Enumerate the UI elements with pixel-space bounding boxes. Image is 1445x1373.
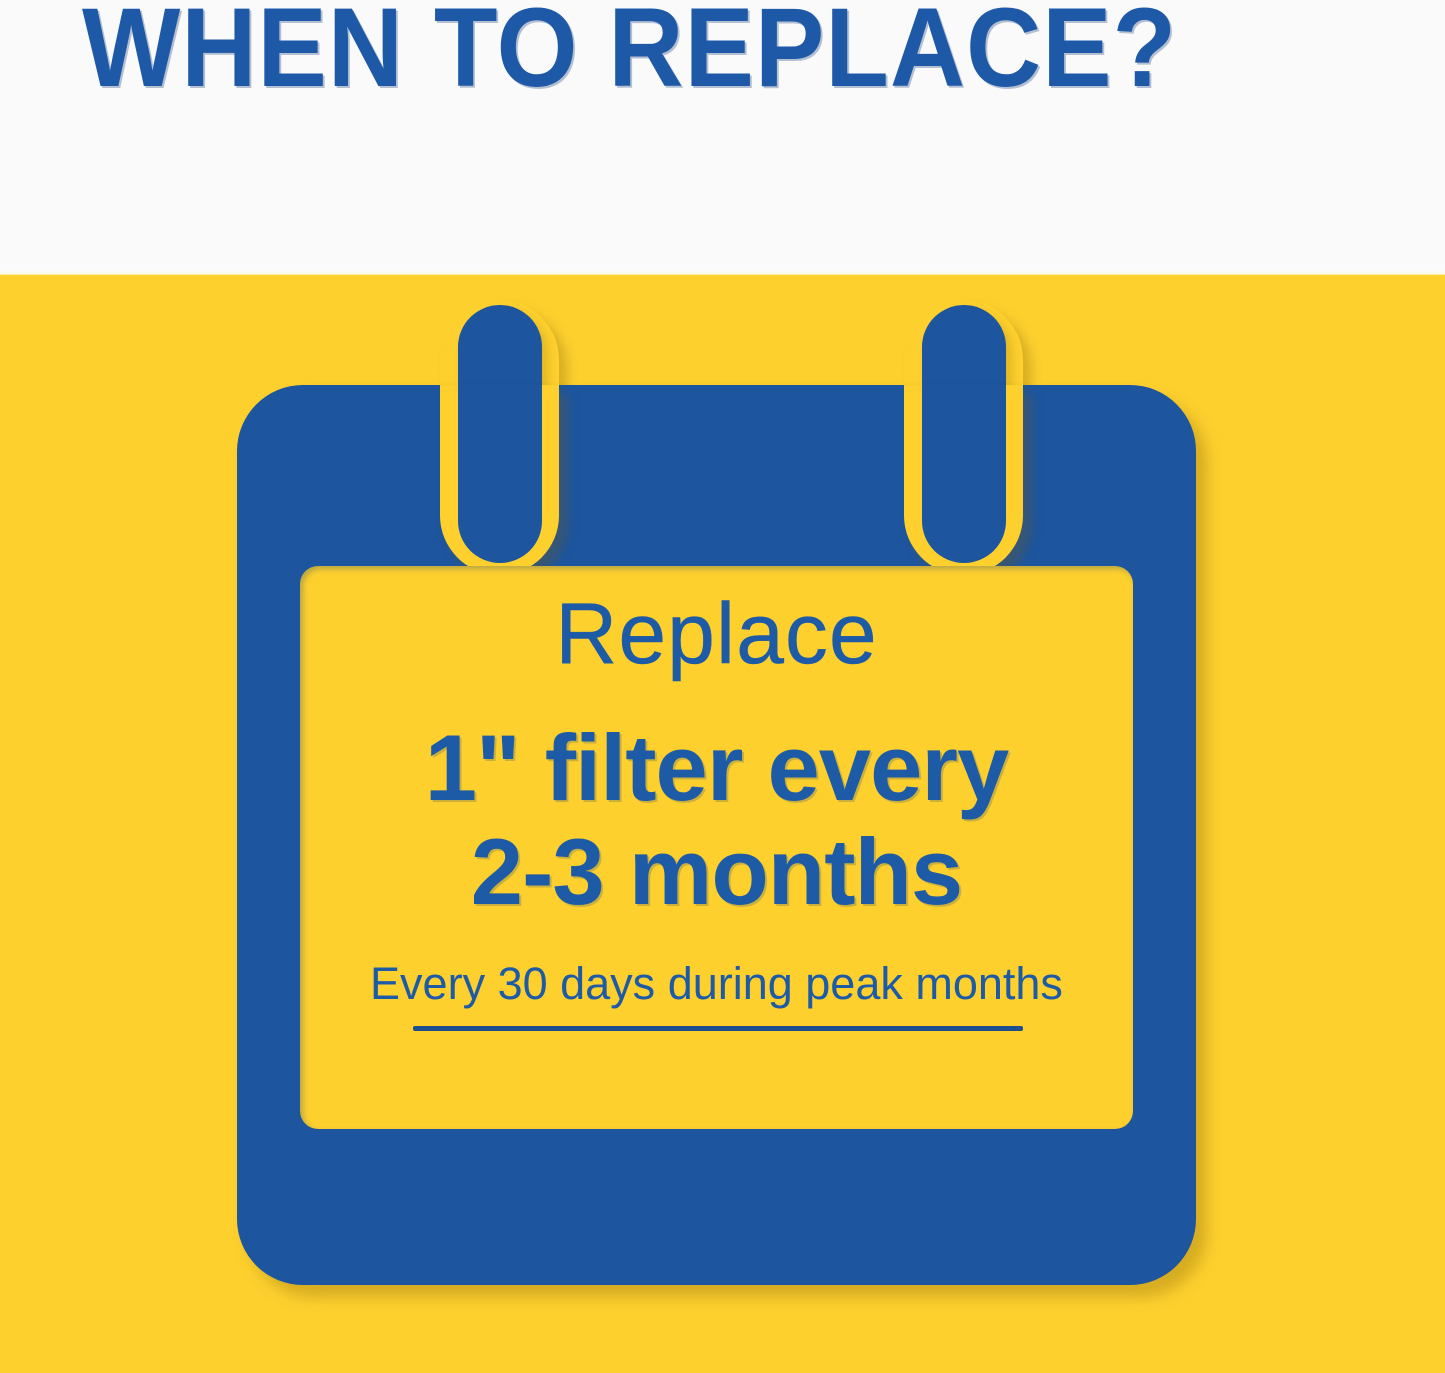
calendar-ring-left-lower bbox=[458, 385, 542, 563]
calendar-headline-line2: 2-3 months bbox=[300, 820, 1133, 924]
page-title: WHEN TO REPLACE? bbox=[82, 0, 1124, 108]
calendar-footnote-rule bbox=[413, 1026, 1023, 1031]
calendar-icon: Replace 1" filter every 2-3 months Every… bbox=[237, 300, 1197, 1285]
infographic-panel: WHEN TO REPLACE? Replace 1" filter every… bbox=[0, 0, 1445, 1373]
calendar-ring-right-lower bbox=[922, 385, 1006, 563]
calendar-eyebrow: Replace bbox=[300, 586, 1133, 682]
calendar-footnote: Every 30 days during peak months bbox=[310, 956, 1123, 1012]
calendar-headline-line1: 1" filter every bbox=[425, 715, 1008, 820]
calendar-content: Replace 1" filter every 2-3 months Every… bbox=[300, 566, 1133, 1129]
calendar-headline: 1" filter every 2-3 months bbox=[300, 716, 1133, 924]
